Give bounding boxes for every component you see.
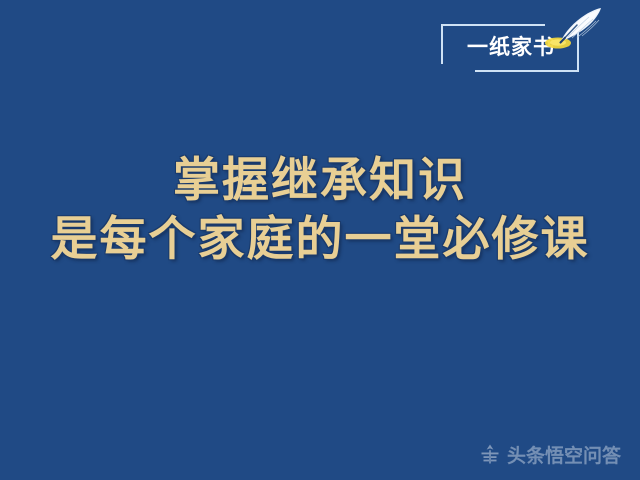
- watermark: 头条悟空问答: [478, 440, 630, 468]
- title-line-1: 掌握继承知识: [0, 152, 640, 208]
- slide-canvas: 一纸家书 掌握继承知识 是每个家庭的一堂必修课: [0, 0, 640, 480]
- page-title: 掌握继承知识 是每个家庭的一堂必修课: [0, 152, 640, 270]
- title-line-2: 是每个家庭的一堂必修课: [0, 208, 640, 270]
- watermark-text: 头条悟空问答: [507, 441, 621, 468]
- toutiao-logo-icon: [478, 442, 502, 466]
- feather-quill-icon: [541, 4, 603, 58]
- badge: 一纸家书: [441, 18, 581, 76]
